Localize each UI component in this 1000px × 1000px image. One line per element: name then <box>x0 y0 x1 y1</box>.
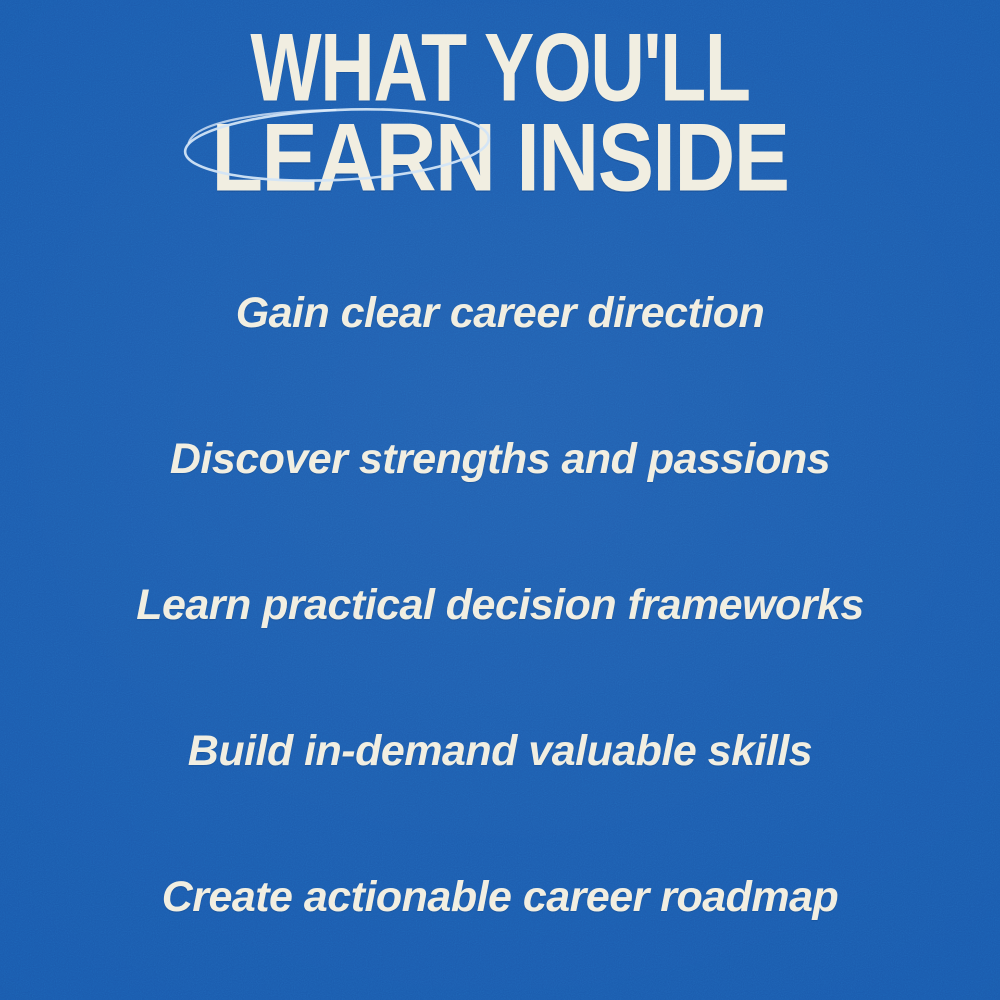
benefit-label: Gain clear career direction <box>236 291 765 336</box>
benefit-label: Create actionable career roadmap <box>162 875 839 920</box>
benefit-label: Discover strengths and passions <box>170 437 830 482</box>
benefit-label: Build in-demand valuable skills <box>188 729 812 774</box>
page-title-line-1: WHAT YOU'LL <box>0 24 1000 113</box>
page-title: WHAT YOU'LL LEARN INSIDE <box>0 44 1000 182</box>
page-title-line-2: LEARN INSIDE <box>0 114 1000 203</box>
list-item: Discover strengths and passions <box>0 386 1000 532</box>
list-item: Create actionable career roadmap <box>0 824 1000 970</box>
list-item: Learn practical decision frameworks <box>0 532 1000 678</box>
benefit-label: Learn practical decision frameworks <box>136 583 864 628</box>
list-item: Gain clear career direction <box>0 240 1000 386</box>
benefits-list: Gain clear career direction Discover str… <box>0 240 1000 970</box>
slide-canvas: WHAT YOU'LL LEARN INSIDE Gain clear care… <box>0 0 1000 1000</box>
list-item: Build in-demand valuable skills <box>0 678 1000 824</box>
